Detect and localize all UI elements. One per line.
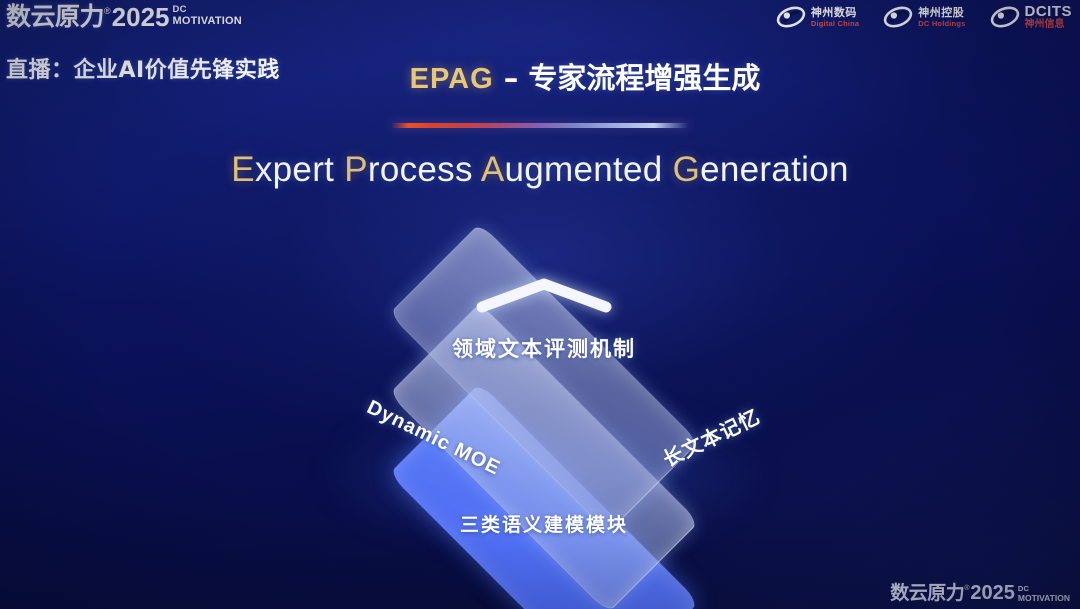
brand-logo-motivation: MOTIVATION [173, 16, 242, 27]
partner-name-en: Digital China [811, 20, 859, 28]
subtitle-part-2: P [344, 150, 368, 189]
swoosh-logo-icon [990, 4, 1020, 30]
subtitle-part-6: G [673, 150, 701, 189]
partner-logo-dc-holdings-text: 神州控股 DC Holdings [918, 7, 965, 28]
watermark-motivation: MOTIVATION [1018, 594, 1070, 603]
partner-logo-digital-china: 神州数码 Digital China [776, 4, 859, 30]
layer-stack-diagram: 领域文本评测机制 Dynamic MOE 长文本记忆 三类语义建模模块 [270, 215, 818, 575]
partner-name-cn: 神州信息 [1025, 20, 1073, 30]
partner-logo-dcits: DCITS 神州信息 [990, 4, 1073, 30]
watermark-registered-mark: ® [964, 584, 969, 594]
partner-name-cn: 神州控股 [918, 7, 965, 18]
partner-logo-dc-holdings: 神州控股 DC Holdings [883, 4, 965, 30]
page-title: EPAG – 专家流程增强生成 [0, 55, 1080, 97]
brand-logo-registered-mark: ® [104, 5, 111, 17]
watermark-year: 2025 [970, 582, 1015, 605]
slide-canvas: 数云原力 ® 2025 DC MOTIVATION 直播：企业AI价值先锋实践 … [0, 0, 1080, 609]
diagram-layer-top-face [389, 223, 699, 533]
partner-name-cn: 神州数码 [811, 7, 859, 18]
subtitle-part-4: A [481, 150, 505, 189]
brand-logo-chinese: 数云原力 [6, 2, 104, 32]
partner-logo-dcits-text: DCITS 神州信息 [1025, 4, 1073, 30]
brand-logo-year: 2025 [112, 2, 170, 32]
page-subtitle: Expert Process Augmented Generation [0, 150, 1080, 190]
watermark-dc: DC [1018, 585, 1070, 593]
partner-name-en: DCITS [1025, 4, 1073, 19]
partner-logo-digital-china-text: 神州数码 Digital China [811, 7, 859, 28]
page-title-chinese: 专家流程增强生成 [528, 61, 760, 95]
subtitle-part-5: ugmented [505, 150, 673, 189]
brand-logo: 数云原力 ® 2025 DC MOTIVATION [6, 2, 242, 32]
subtitle-part-0: E [231, 150, 255, 189]
subtitle-part-7: eneration [700, 150, 849, 189]
subtitle-part-1: xpert [255, 150, 344, 189]
diagram-layer-top [389, 223, 699, 533]
title-divider-gradient-bar [390, 123, 690, 128]
watermark-chinese: 数云原力 [890, 582, 964, 605]
page-title-separator: – [494, 61, 529, 95]
subtitle-part-3: rocess [368, 150, 481, 189]
brand-logo-dcm: DC MOTIVATION [173, 5, 242, 27]
footer-watermark-logo: 数云原力 ® 2025 DC MOTIVATION [890, 582, 1070, 605]
swoosh-logo-icon [883, 4, 913, 30]
watermark-dcm: DC MOTIVATION [1018, 585, 1070, 602]
page-title-acronym: EPAG [410, 63, 494, 95]
partner-logo-group: 神州数码 Digital China 神州控股 DC Holdings [776, 4, 1072, 30]
swoosh-logo-icon [776, 4, 806, 30]
partner-name-en: DC Holdings [918, 20, 965, 28]
brand-logo-dc: DC [173, 5, 242, 15]
